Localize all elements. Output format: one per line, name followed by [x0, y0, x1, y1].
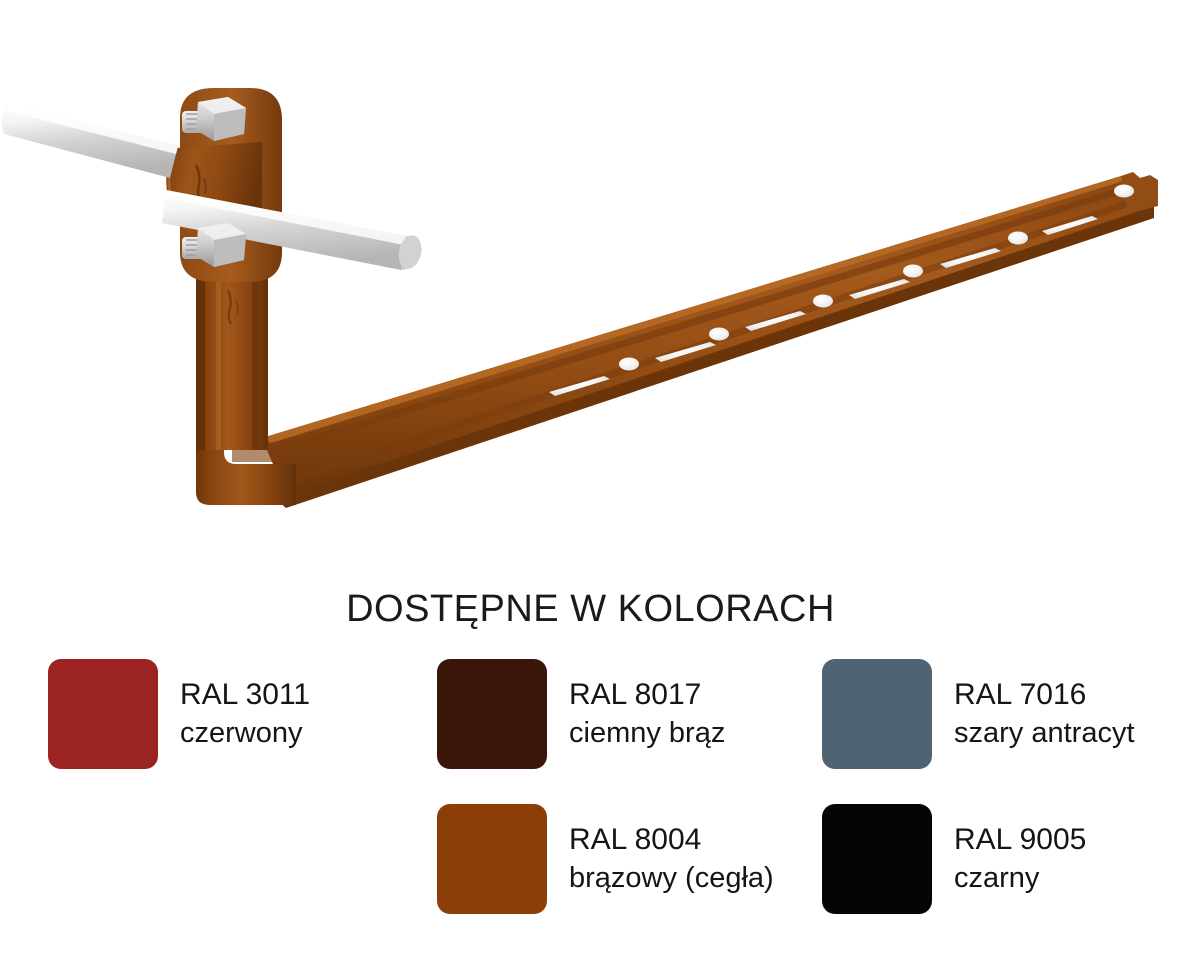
swatch-chip-ral-9005[interactable]	[822, 804, 932, 914]
arm-hole	[619, 358, 639, 371]
arm-top-bevel	[262, 176, 1130, 443]
swatch-chip-ral-8004[interactable]	[437, 804, 547, 914]
arm-hole	[903, 265, 923, 278]
color-swatch-ral-3011[interactable]: RAL 3011 czerwony	[48, 659, 310, 769]
color-swatch-ral-9005[interactable]: RAL 9005 czarny	[822, 804, 1086, 914]
swatch-code: RAL 8017	[569, 676, 725, 714]
color-swatch-ral-8017[interactable]: RAL 8017 ciemny brąz	[437, 659, 725, 769]
swatch-label-group: RAL 3011 czerwony	[180, 676, 310, 752]
swatch-label-group: RAL 8004 brązowy (cegła)	[569, 821, 774, 897]
swatch-chip-ral-3011[interactable]	[48, 659, 158, 769]
color-swatch-ral-7016[interactable]: RAL 7016 szary antracyt	[822, 659, 1135, 769]
swatch-name: czerwony	[180, 715, 310, 752]
swatch-chip-ral-8017[interactable]	[437, 659, 547, 769]
arm-hole	[1114, 185, 1134, 198]
swatch-name: brązowy (cegła)	[569, 860, 774, 897]
swatch-name: szary antracyt	[954, 715, 1135, 752]
swatch-name: czarny	[954, 860, 1086, 897]
perforated-horizontal-arm	[262, 172, 1158, 508]
swatch-code: RAL 3011	[180, 676, 310, 714]
swatch-label-group: RAL 7016 szary antracyt	[954, 676, 1135, 752]
colors-heading: DOSTĘPNE W KOLORACH	[0, 560, 1181, 631]
bracket-drawing	[0, 0, 1181, 560]
swatch-label-group: RAL 9005 czarny	[954, 821, 1086, 897]
arm-hole	[709, 328, 729, 341]
arm-hole	[813, 295, 833, 308]
swatch-code: RAL 7016	[954, 676, 1135, 714]
swatch-label-group: RAL 8017 ciemny brąz	[569, 676, 725, 752]
arm-rib-upper	[268, 185, 1131, 456]
arm-hole	[1008, 232, 1028, 245]
product-illustration	[0, 0, 1181, 560]
color-swatch-grid: RAL 3011 czerwony RAL 8017 ciemny brąz R…	[0, 659, 1181, 949]
color-swatch-ral-8004[interactable]: RAL 8004 brązowy (cegła)	[437, 804, 774, 914]
swatch-chip-ral-7016[interactable]	[822, 659, 932, 769]
swatch-name: ciemny brąz	[569, 715, 725, 752]
available-colors-section: DOSTĘPNE W KOLORACH RAL 3011 czerwony RA…	[0, 560, 1181, 963]
swatch-code: RAL 9005	[954, 821, 1086, 859]
swatch-code: RAL 8004	[569, 821, 774, 859]
